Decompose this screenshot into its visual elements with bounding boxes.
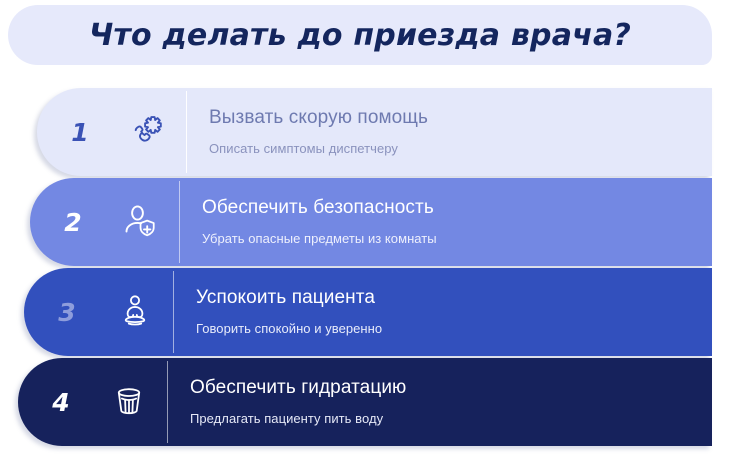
step-4-content: Обеспечить гидратацию Предлагать пациент… <box>168 358 712 446</box>
step-2-content: Обеспечить безопасность Убрать опасные п… <box>180 178 712 266</box>
step-1-badge: 1 <box>37 88 187 176</box>
step-row-1[interactable]: 1 Вызвать скорую помощь Описать симптомы… <box>37 88 712 176</box>
step-row-2[interactable]: 2 Обеспечить безопасность Убрать опасные… <box>30 178 712 266</box>
step-1-content: Вызвать скорую помощь Описать симптомы д… <box>187 88 712 176</box>
step-1-subtitle: Описать симптомы диспетчеру <box>209 141 712 157</box>
title-banner: Что делать до приезда врача? <box>8 5 712 65</box>
step-1-title: Вызвать скорую помощь <box>209 107 712 130</box>
step-4-subtitle: Предлагать пациенту пить воду <box>190 411 712 427</box>
step-4-badge: 4 <box>18 358 168 446</box>
page-title: Что делать до приезда врача? <box>89 18 631 53</box>
step-3-subtitle: Говорить спокойно и уверенно <box>196 321 712 337</box>
step-row-4[interactable]: 4 Обеспечить гидратацию Предлагать пацие… <box>18 358 712 446</box>
step-2-number: 2 <box>63 210 83 235</box>
water-glass-icon <box>109 382 149 422</box>
step-3-number: 3 <box>57 300 77 325</box>
step-2-title: Обеспечить безопасность <box>202 197 712 220</box>
step-1-number: 1 <box>70 120 90 145</box>
step-row-3[interactable]: 3 Успокоить пациента Говорить спокойно и… <box>24 268 712 356</box>
step-3-content: Успокоить пациента Говорить спокойно и у… <box>174 268 712 356</box>
step-2-subtitle: Убрать опасные предметы из комнаты <box>202 231 712 247</box>
step-3-title: Успокоить пациента <box>196 287 712 310</box>
steps-list: 1 Вызвать скорую помощь Описать симптомы… <box>0 88 730 452</box>
phone-medical-icon <box>128 112 168 152</box>
step-2-badge: 2 <box>30 178 180 266</box>
step-3-badge: 3 <box>24 268 174 356</box>
step-4-title: Обеспечить гидратацию <box>190 377 712 400</box>
person-shield-plus-icon <box>121 202 161 242</box>
meditating-person-icon <box>115 292 155 332</box>
step-4-number: 4 <box>51 390 71 415</box>
